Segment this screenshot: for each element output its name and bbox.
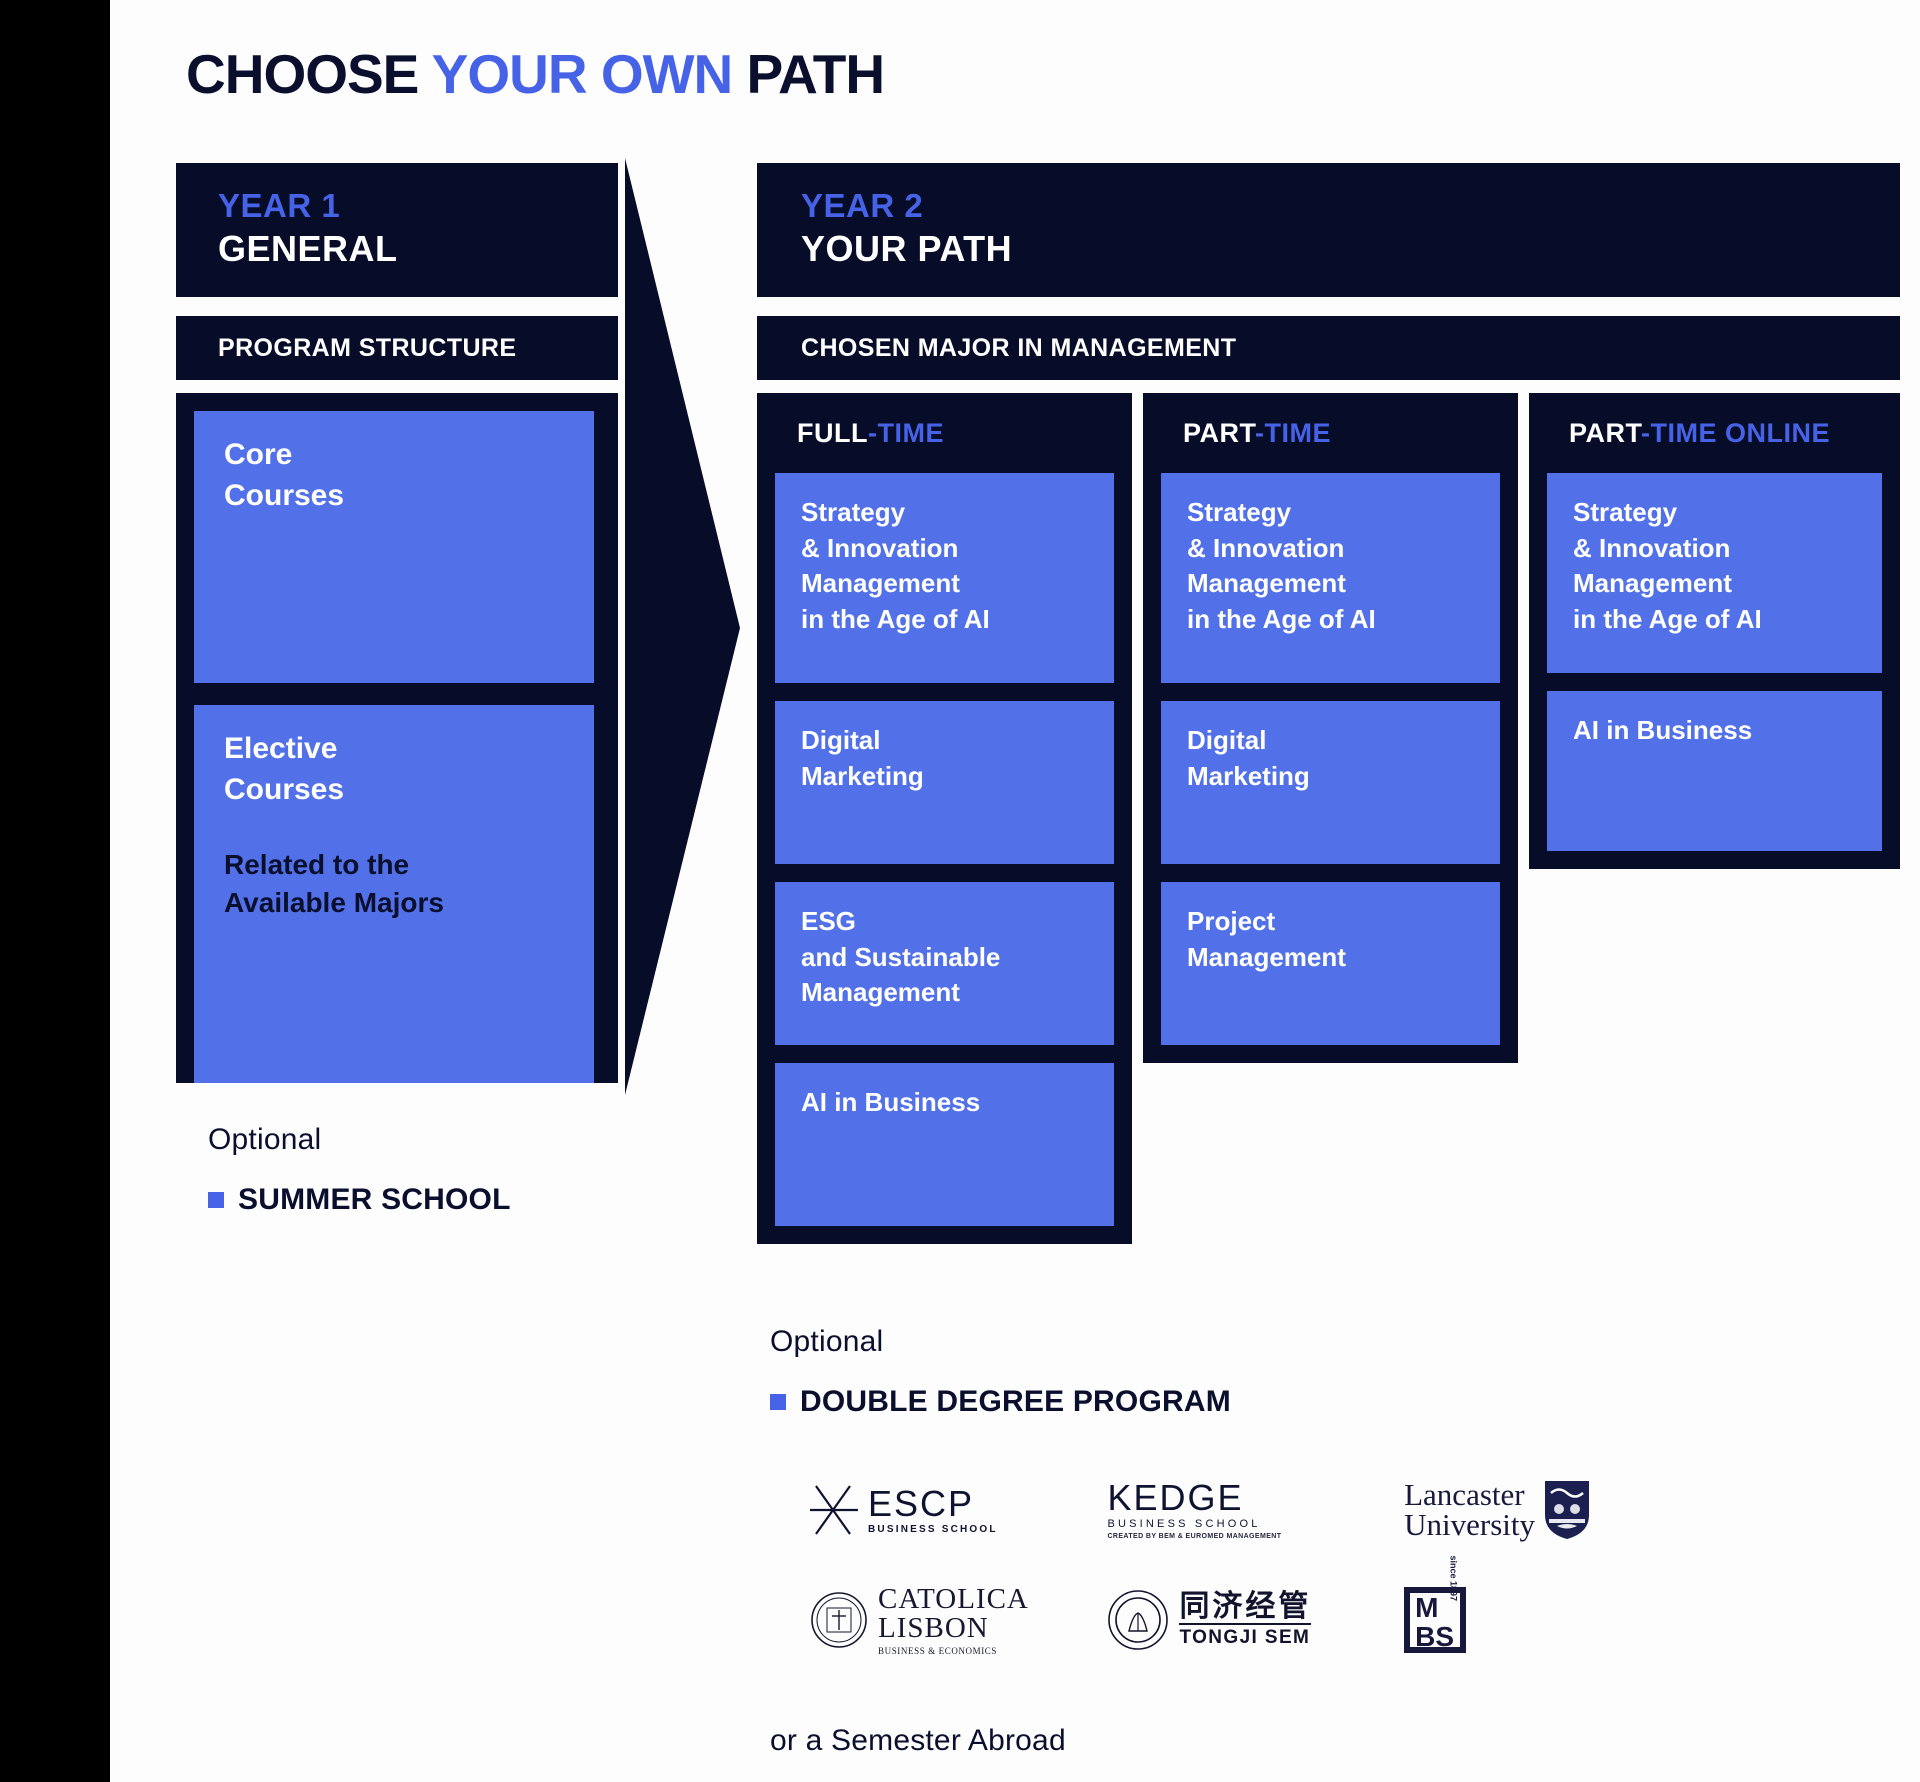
year2-year-label: YEAR 2	[801, 185, 1900, 226]
track2-head-plain: PART	[1569, 418, 1641, 448]
course-card[interactable]: AI in Business	[1547, 691, 1882, 851]
lancaster-line2: University	[1404, 1510, 1535, 1540]
escp-tagline: BUSINESS SCHOOL	[868, 1524, 998, 1535]
title-part2: PATH	[732, 43, 884, 105]
year2-optional-row[interactable]: DOUBLE DEGREE PROGRAM	[770, 1385, 1231, 1419]
year1-optional-label: Optional	[208, 1123, 511, 1157]
course-card[interactable]: Strategy& InnovationManagementin the Age…	[775, 473, 1114, 683]
track-part-time-online: PART-TIME ONLINE Strategy& InnovationMan…	[1529, 393, 1900, 869]
year1-optional-row[interactable]: SUMMER SCHOOL	[208, 1183, 511, 1217]
track-full-time: FULL-TIME Strategy& InnovationManagement…	[757, 393, 1132, 1244]
course-card[interactable]: DigitalMarketing	[1161, 701, 1500, 864]
year1-optional-item: SUMMER SCHOOL	[238, 1183, 511, 1217]
year1-optional-block: Optional SUMMER SCHOOL	[208, 1123, 511, 1217]
title-part1: CHOOSE	[186, 43, 432, 105]
lancaster-shield-icon	[1543, 1479, 1591, 1541]
year1-elective-note-line2: Available Majors	[224, 884, 594, 922]
track2-head-highlight: -TIME ONLINE	[1641, 418, 1830, 448]
course-card[interactable]: DigitalMarketing	[775, 701, 1114, 864]
infographic-root: CHOOSE YOUR OWN PATH YEAR 1 GENERAL PROG…	[0, 0, 1920, 1782]
tongji-sem-logo: 同济经管 TONGJI SEM	[1077, 1589, 1384, 1651]
mbs-letter-m: M	[1415, 1594, 1438, 1622]
title-highlight: YOUR OWN	[432, 43, 733, 105]
tongji-english-name: TONGJI SEM	[1179, 1623, 1311, 1649]
mbs-logo: M BS since 1897	[1384, 1587, 1690, 1653]
square-bullet-icon	[208, 1192, 224, 1208]
tongji-chinese-name: 同济经管	[1179, 1591, 1311, 1623]
mbs-since-text: since 1897	[1448, 1555, 1458, 1601]
year2-band-label: CHOSEN MAJOR IN MANAGEMENT	[801, 334, 1236, 363]
track-full-time-header: FULL-TIME	[775, 393, 1114, 473]
kedge-tagline2: CREATED BY BEM & EUROMED MANAGEMENT	[1107, 1533, 1281, 1540]
course-card[interactable]: Strategy& InnovationManagementin the Age…	[1547, 473, 1882, 673]
track1-head-plain: PART	[1183, 418, 1255, 448]
catolica-lisbon-logo: CATOLICA LISBON BUSINESS & ECONOMICS	[770, 1585, 1077, 1656]
year2-subtitle: YOUR PATH	[801, 226, 1900, 271]
catolica-line2: LISBON	[878, 1614, 1029, 1643]
year1-card-core[interactable]: Core Courses	[194, 411, 594, 683]
track0-head-plain: FULL	[797, 418, 868, 448]
year2-band: CHOSEN MAJOR IN MANAGEMENT	[757, 316, 1900, 380]
year1-core-line1: Core	[224, 435, 594, 476]
kedge-tagline: BUSINESS SCHOOL	[1107, 1518, 1281, 1530]
semester-abroad-note: or a Semester Abroad	[770, 1724, 1066, 1758]
flow-arrow	[600, 150, 770, 1100]
year1-body: Core Courses Elective Courses Related to…	[176, 393, 618, 1083]
partner-logo-row-1: ESCP BUSINESS SCHOOL KEDGE BUSINESS SCHO…	[770, 1455, 1690, 1565]
escp-star-icon	[810, 1480, 862, 1540]
kedge-logo: KEDGE BUSINESS SCHOOL CREATED BY BEM & E…	[1077, 1480, 1384, 1540]
year1-core-line2: Courses	[224, 476, 594, 517]
track-part-time: PART-TIME Strategy& InnovationManagement…	[1143, 393, 1518, 1063]
track-part-time-header: PART-TIME	[1161, 393, 1500, 473]
left-black-bar	[0, 0, 110, 1782]
course-card[interactable]: ProjectManagement	[1161, 882, 1500, 1045]
tongji-seal-icon	[1107, 1589, 1169, 1651]
year1-header: YEAR 1 GENERAL	[176, 163, 618, 297]
year2-optional-label: Optional	[770, 1325, 1231, 1359]
year2-optional-block: Optional DOUBLE DEGREE PROGRAM	[770, 1325, 1231, 1419]
square-bullet-icon	[770, 1394, 786, 1410]
catolica-tagline: BUSINESS & ECONOMICS	[878, 1646, 1029, 1656]
year2-optional-item: DOUBLE DEGREE PROGRAM	[800, 1385, 1231, 1419]
course-card[interactable]: AI in Business	[775, 1063, 1114, 1226]
partner-logos: ESCP BUSINESS SCHOOL KEDGE BUSINESS SCHO…	[770, 1455, 1690, 1675]
year1-card-elective[interactable]: Elective Courses Related to the Availabl…	[194, 705, 594, 1083]
partner-logo-row-2: CATOLICA LISBON BUSINESS & ECONOMICS	[770, 1565, 1690, 1675]
kedge-wordmark: KEDGE	[1107, 1480, 1281, 1516]
lancaster-logo: Lancaster University	[1384, 1479, 1690, 1541]
year1-year-label: YEAR 1	[218, 185, 618, 226]
escp-logo: ESCP BUSINESS SCHOOL	[770, 1480, 1077, 1540]
escp-wordmark: ESCP	[868, 1486, 998, 1522]
page-title: CHOOSE YOUR OWN PATH	[186, 42, 884, 106]
year1-band-label: PROGRAM STRUCTURE	[218, 334, 516, 363]
year1-subtitle: GENERAL	[218, 226, 618, 271]
year1-elective-note: Related to the Available Majors	[224, 846, 594, 922]
year2-header: YEAR 2 YOUR PATH	[757, 163, 1900, 297]
track-part-time-online-header: PART-TIME ONLINE	[1547, 393, 1882, 473]
track0-head-highlight: -TIME	[868, 418, 944, 448]
catolica-seal-icon	[810, 1589, 868, 1651]
course-card[interactable]: Strategy& InnovationManagementin the Age…	[1161, 473, 1500, 683]
course-card[interactable]: ESGand SustainableManagement	[775, 882, 1114, 1045]
track1-head-highlight: -TIME	[1255, 418, 1331, 448]
year1-elective-note-line1: Related to the	[224, 846, 594, 884]
year1-elective-line1: Elective	[224, 729, 594, 770]
catolica-line1: CATOLICA	[878, 1585, 1029, 1614]
mbs-letters-bs: BS	[1415, 1623, 1454, 1651]
year1-band: PROGRAM STRUCTURE	[176, 316, 618, 380]
year1-elective-line2: Courses	[224, 770, 594, 811]
lancaster-line1: Lancaster	[1404, 1480, 1535, 1510]
